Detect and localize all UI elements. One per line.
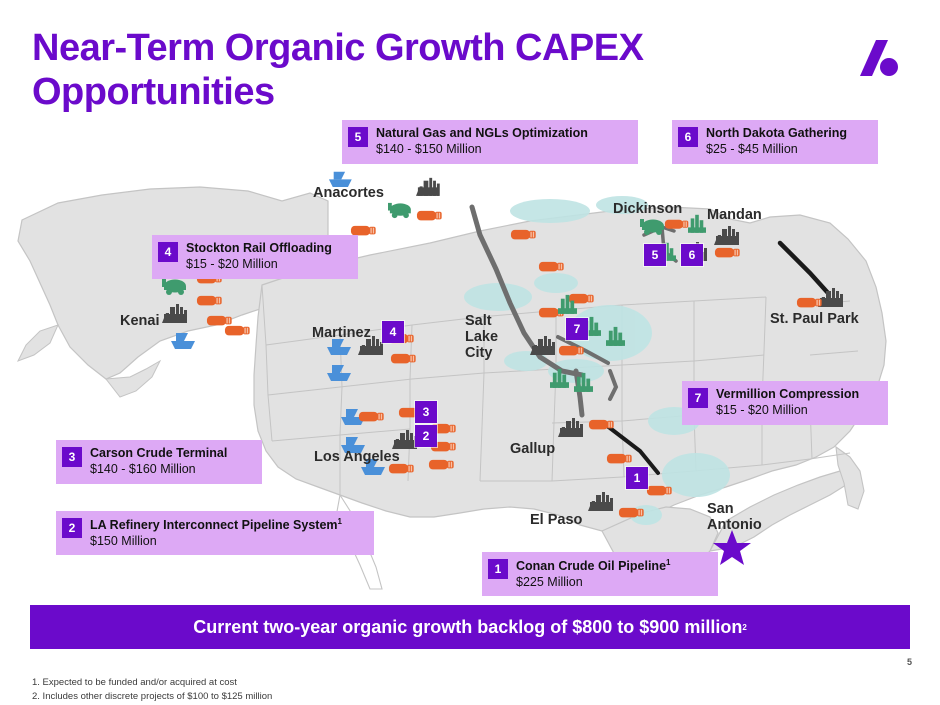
page-number: 5: [907, 657, 912, 667]
marker-label: 1: [634, 471, 641, 485]
tank-car-icon: [225, 326, 250, 336]
banner-text: Current two-year organic growth backlog …: [193, 617, 742, 638]
callout-value: $140 - $160 Million: [90, 462, 227, 478]
marker-label: 7: [574, 322, 581, 336]
callout-north-dakota-gathering[interactable]: 6 North Dakota Gathering $25 - $45 Milli…: [672, 120, 878, 164]
map-marker-2[interactable]: 2: [415, 425, 437, 447]
marker-label: 6: [689, 248, 696, 262]
marker-label: 5: [652, 248, 659, 262]
tank-car-icon: [797, 298, 822, 308]
city-label-los-angeles: Los Angeles: [314, 449, 400, 465]
rail-tank-icon: [388, 203, 411, 218]
tank-car-icon: [511, 230, 536, 240]
callout-value: $140 - $150 Million: [376, 142, 588, 158]
callout-value: $150 Million: [90, 534, 342, 550]
city-label-salt-lake-city: Salt Lake City: [465, 313, 498, 362]
tank-car-icon: [619, 508, 644, 517]
map-marker-5[interactable]: 5: [644, 244, 666, 266]
footnote-1: 1. Expected to be funded and/or acquired…: [32, 676, 272, 690]
city-label-el-paso: El Paso: [530, 512, 582, 528]
tank-car-icon: [351, 226, 376, 236]
marker-label: 4: [390, 325, 397, 339]
callout-badge-5: 5: [348, 127, 368, 147]
slide-root: Near-Term Organic Growth CAPEX Opportuni…: [0, 0, 940, 705]
tank-car-icon: [559, 346, 584, 356]
callout-title: Natural Gas and NGLs Optimization: [376, 126, 588, 142]
callout-title: Vermillion Compression: [716, 387, 859, 403]
map-marker-4[interactable]: 4: [382, 321, 404, 343]
marker-label: 3: [423, 405, 430, 419]
callout-badge-2: 2: [62, 518, 82, 538]
callout-vermillion-compression[interactable]: 7 Vermillion Compression $15 - $20 Milli…: [682, 381, 888, 425]
callout-title: Conan Crude Oil Pipeline1: [516, 558, 670, 575]
callout-badge-1: 1: [488, 559, 508, 579]
callout-superscript: 1: [666, 558, 670, 567]
callout-conan-crude-oil-pipeline[interactable]: 1 Conan Crude Oil Pipeline1 $225 Million: [482, 552, 718, 596]
map-marker-7[interactable]: 7: [566, 318, 588, 340]
tank-car-icon: [197, 296, 222, 306]
backlog-banner: Current two-year organic growth backlog …: [30, 605, 910, 649]
footnotes: 1. Expected to be funded and/or acquired…: [32, 676, 272, 704]
callout-natural-gas-ngls-optimization[interactable]: 5 Natural Gas and NGLs Optimization $140…: [342, 120, 638, 164]
city-label-san-antonio: San Antonio: [707, 501, 762, 533]
tank-car-icon: [607, 454, 632, 464]
city-label-dickinson: Dickinson: [613, 201, 682, 217]
map-marker-1[interactable]: 1: [626, 467, 648, 489]
city-label-kenai: Kenai: [120, 313, 160, 329]
tank-car-icon: [539, 262, 564, 272]
tank-car-icon: [715, 248, 740, 258]
city-label-anacortes: Anacortes: [313, 185, 384, 201]
tank-car-icon: [589, 420, 614, 430]
tank-car-icon: [359, 412, 384, 422]
page-title: Near-Term Organic Growth CAPEX Opportuni…: [32, 26, 772, 114]
tank-car-icon: [665, 220, 688, 229]
footnote-2: 2. Includes other discrete projects of $…: [32, 690, 272, 704]
marker-label: 2: [423, 429, 430, 443]
tank-car-icon: [391, 354, 416, 364]
tank-car-icon: [389, 464, 414, 474]
company-logo-icon: [842, 36, 904, 80]
tank-car-icon: [417, 211, 442, 221]
city-label-gallup: Gallup: [510, 441, 555, 457]
callout-title: North Dakota Gathering: [706, 126, 847, 142]
city-label-st-paul-park: St. Paul Park: [770, 311, 859, 327]
callout-la-refinery-interconnect-pipeline-system[interactable]: 2 LA Refinery Interconnect Pipeline Syst…: [56, 511, 374, 555]
callout-badge-7: 7: [688, 388, 708, 408]
callout-value: $15 - $20 Million: [716, 403, 859, 419]
callout-value: $225 Million: [516, 575, 670, 591]
callout-title: Carson Crude Terminal: [90, 446, 227, 462]
refinery-icon: [416, 178, 440, 196]
callout-value: $25 - $45 Million: [706, 142, 847, 158]
callout-carson-crude-terminal[interactable]: 3 Carson Crude Terminal $140 - $160 Mill…: [56, 440, 262, 484]
map-marker-6[interactable]: 6: [681, 244, 703, 266]
callout-superscript: 1: [338, 517, 342, 526]
tank-car-icon: [647, 486, 672, 496]
callout-badge-3: 3: [62, 447, 82, 467]
city-label-martinez: Martinez: [312, 325, 371, 341]
tank-car-icon: [429, 460, 454, 470]
city-label-mandan: Mandan: [707, 207, 762, 223]
map-marker-3[interactable]: 3: [415, 401, 437, 423]
banner-superscript: 2: [742, 623, 746, 632]
callout-badge-6: 6: [678, 127, 698, 147]
callout-title: Stockton Rail Offloading: [186, 241, 332, 257]
callout-title: LA Refinery Interconnect Pipeline System…: [90, 517, 342, 534]
callout-stockton-rail-offloading[interactable]: 4 Stockton Rail Offloading $15 - $20 Mil…: [152, 235, 358, 279]
callout-value: $15 - $20 Million: [186, 257, 332, 273]
tank-car-icon: [207, 316, 232, 326]
callout-badge-4: 4: [158, 242, 178, 262]
